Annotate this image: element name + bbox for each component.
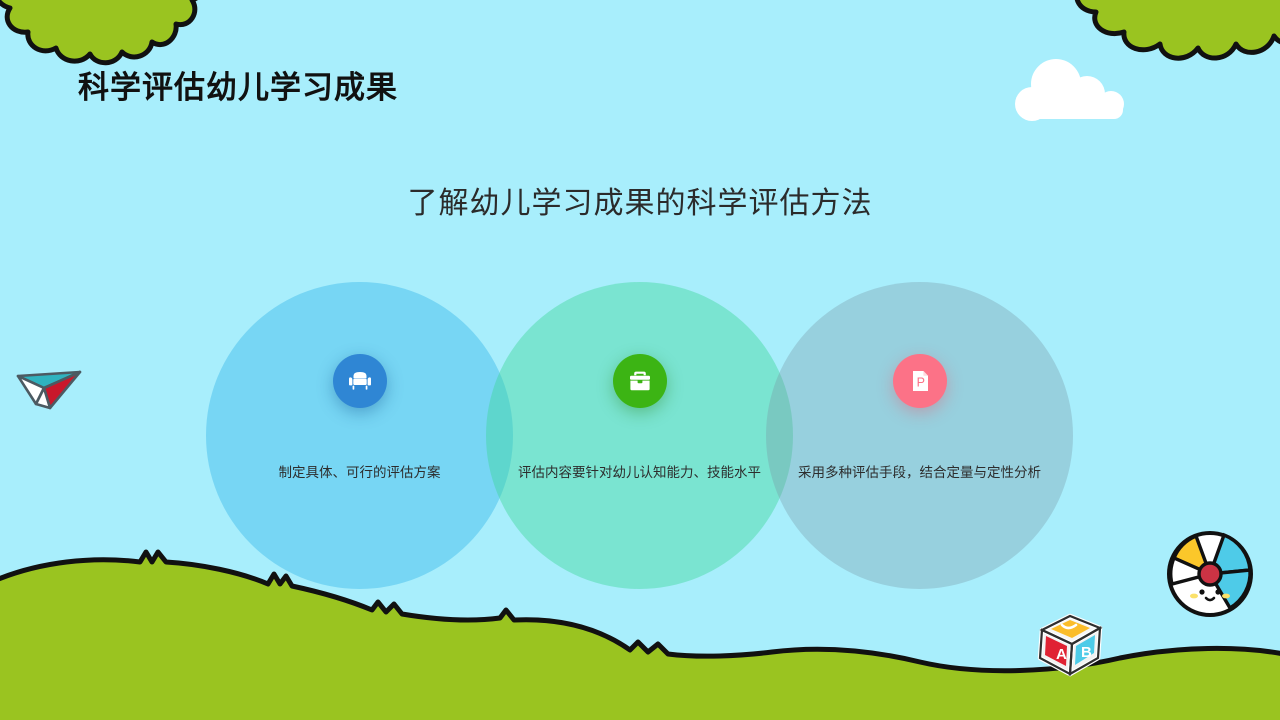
alphabet-block-letter-a: A bbox=[1056, 646, 1067, 663]
venn-diagram: 制定具体、可行的评估方案 评估内容要针对幼儿认知能力、技能水平 bbox=[0, 282, 1280, 594]
toolbox-icon bbox=[626, 367, 654, 395]
armchair-icon-badge[interactable] bbox=[333, 354, 387, 408]
powerpoint-file-icon: P bbox=[906, 367, 934, 395]
page-subtitle: 了解幼儿学习成果的科学评估方法 bbox=[0, 178, 1280, 222]
venn-item-1[interactable]: 制定具体、可行的评估方案 bbox=[206, 282, 513, 589]
venn-item-1-text: 制定具体、可行的评估方案 bbox=[222, 462, 497, 483]
armchair-icon bbox=[346, 367, 374, 395]
toolbox-icon-badge[interactable] bbox=[613, 354, 667, 408]
powerpoint-file-icon-badge[interactable]: P bbox=[893, 354, 947, 408]
cloud-icon bbox=[1012, 58, 1132, 124]
alphabet-block-icon: A B bbox=[1032, 612, 1110, 684]
venn-item-3[interactable]: P 采用多种评估手段，结合定量与定性分析 bbox=[766, 282, 1073, 589]
venn-item-2[interactable]: 评估内容要针对幼儿认知能力、技能水平 bbox=[486, 282, 793, 589]
venn-item-2-text: 评估内容要针对幼儿认知能力、技能水平 bbox=[502, 462, 777, 483]
page-title: 科学评估幼儿学习成果 bbox=[78, 62, 398, 107]
alphabet-block-letter-b: B bbox=[1081, 644, 1092, 661]
bush-icon bbox=[1010, 0, 1280, 130]
venn-item-3-text: 采用多种评估手段，结合定量与定性分析 bbox=[782, 462, 1057, 483]
slide-canvas: A B 科学评估幼儿学习成果 了解幼儿学习成果的科学评估方法 bbox=[0, 0, 1280, 720]
svg-text:P: P bbox=[916, 376, 924, 390]
